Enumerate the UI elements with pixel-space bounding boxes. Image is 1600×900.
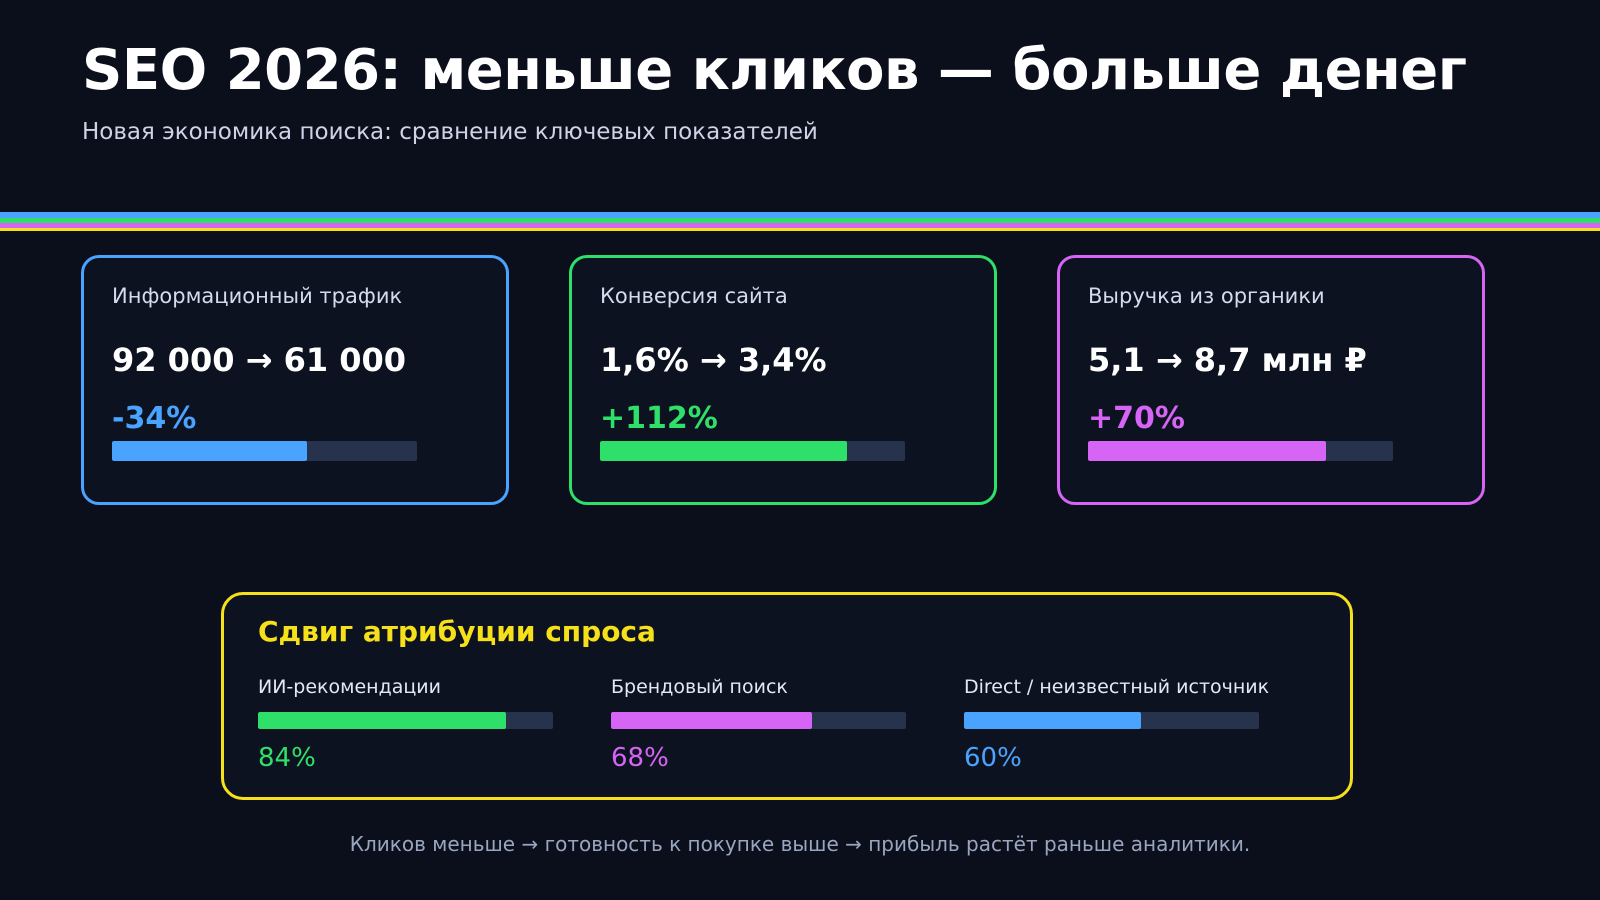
attribution-bar-fill bbox=[611, 712, 812, 729]
attribution-item-percent: 84% bbox=[258, 743, 553, 773]
metric-card-delta: +70% bbox=[1088, 401, 1454, 436]
metric-card-delta: -34% bbox=[112, 401, 478, 436]
metric-card-bar-track bbox=[112, 441, 417, 461]
metric-card-label: Информационный трафик bbox=[112, 284, 478, 309]
attribution-item-list: ИИ-рекомендации 84% Брендовый поиск 68% … bbox=[258, 676, 1350, 773]
metric-card-label: Конверсия сайта bbox=[600, 284, 966, 309]
attribution-item-label: ИИ-рекомендации bbox=[258, 676, 553, 698]
attribution-item-brand: Брендовый поиск 68% bbox=[611, 676, 906, 773]
metric-card-delta: +112% bbox=[600, 401, 966, 436]
attribution-bar-fill bbox=[258, 712, 506, 729]
attribution-item-direct: Direct / неизвестный источник 60% bbox=[964, 676, 1259, 773]
attribution-item-label: Брендовый поиск bbox=[611, 676, 906, 698]
attribution-bar-fill bbox=[964, 712, 1141, 729]
accent-stripe bbox=[0, 212, 1600, 231]
metric-card-row: Информационный трафик 92 000 → 61 000 -3… bbox=[0, 231, 1600, 505]
attribution-bar-track bbox=[611, 712, 906, 729]
stripe-band-yellow bbox=[0, 228, 1600, 231]
attribution-bar-track bbox=[258, 712, 553, 729]
metric-card-bar-fill bbox=[112, 441, 307, 461]
metric-card-value: 92 000 → 61 000 bbox=[112, 341, 478, 379]
attribution-panel: Сдвиг атрибуции спроса ИИ-рекомендации 8… bbox=[221, 592, 1353, 800]
metric-card-bar-track bbox=[1088, 441, 1393, 461]
metric-card-label: Выручка из органики bbox=[1088, 284, 1454, 309]
attribution-item-label: Direct / неизвестный источник bbox=[964, 676, 1259, 698]
metric-card-value: 5,1 → 8,7 млн ₽ bbox=[1088, 341, 1454, 379]
attribution-panel-title: Сдвиг атрибуции спроса bbox=[258, 615, 1350, 648]
metric-card-bar-track bbox=[600, 441, 905, 461]
page-subtitle: Новая экономика поиска: сравнение ключев… bbox=[82, 119, 1600, 145]
page-title: SEO 2026: меньше кликов — больше денег bbox=[82, 40, 1600, 103]
metric-card-revenue: Выручка из органики 5,1 → 8,7 млн ₽ +70% bbox=[1057, 255, 1485, 505]
metric-card-conversion: Конверсия сайта 1,6% → 3,4% +112% bbox=[569, 255, 997, 505]
attribution-item-percent: 68% bbox=[611, 743, 906, 773]
metric-card-bar-fill bbox=[600, 441, 847, 461]
metric-card-bar-fill bbox=[1088, 441, 1326, 461]
footer-note: Кликов меньше → готовность к покупке выш… bbox=[0, 832, 1600, 856]
page-header: SEO 2026: меньше кликов — больше денег Н… bbox=[0, 0, 1600, 212]
metric-card-value: 1,6% → 3,4% bbox=[600, 341, 966, 379]
attribution-item-percent: 60% bbox=[964, 743, 1259, 773]
metric-card-traffic: Информационный трафик 92 000 → 61 000 -3… bbox=[81, 255, 509, 505]
attribution-item-ai: ИИ-рекомендации 84% bbox=[258, 676, 553, 773]
attribution-bar-track bbox=[964, 712, 1259, 729]
